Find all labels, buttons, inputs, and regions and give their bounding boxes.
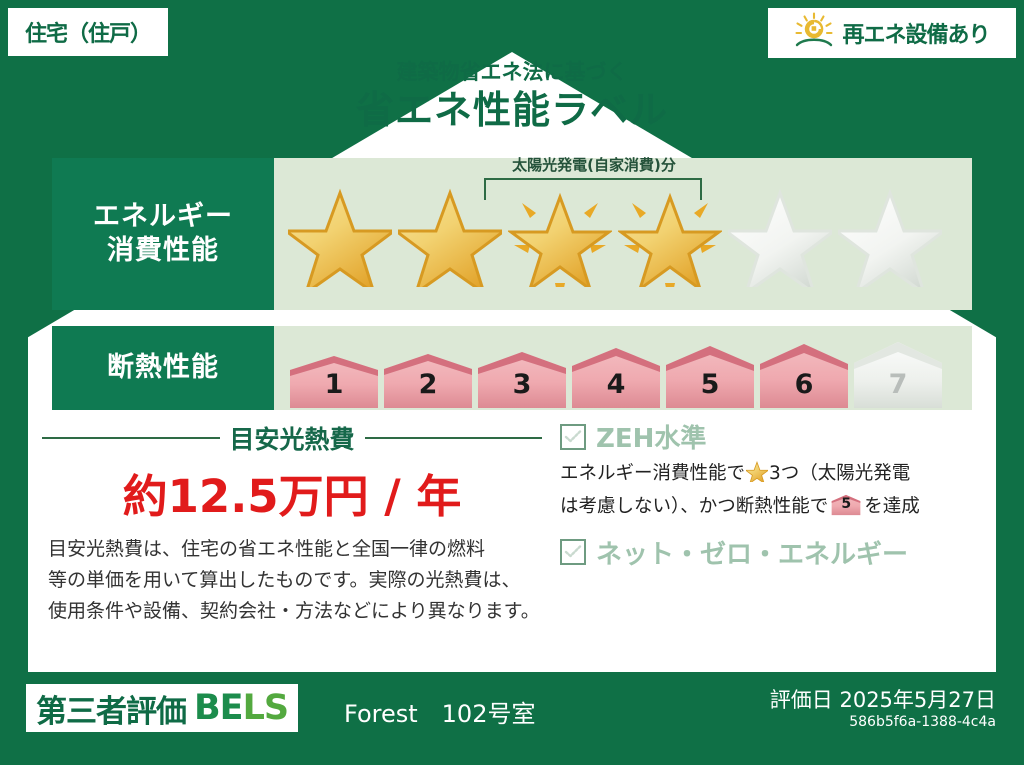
cost-note-line-1: 目安光熱費は、住宅の省エネ性能と全国一律の燃料 (48, 534, 540, 565)
star-5-empty (728, 179, 832, 289)
zeh-standard-description: エネルギー消費性能で 3つ（太陽光発電 は考慮しない）、かつ断熱性能で 5 を達… (560, 459, 970, 522)
bels-wordmark-part2: LS (243, 688, 289, 728)
insulation-grade-3-number: 3 (476, 369, 568, 400)
inline-star-icon (746, 461, 768, 492)
cost-heading-text: 目安光熱費 (230, 420, 355, 456)
footer: 第三者評価 BELS Forest 102号室 評価日 2025年5月27日 5… (0, 672, 1024, 765)
dwelling-type-badge: 住宅（住戸） (8, 8, 168, 56)
insulation-grade-4: 4 (570, 346, 662, 410)
bels-wordmark-part1: BE (194, 688, 243, 728)
insulation-grade-2-number: 2 (382, 369, 474, 400)
bels-logo: 第三者評価 BELS (26, 684, 298, 732)
title-main: 省エネ性能ラベル (0, 87, 1024, 135)
renewable-equipment-label: 再エネ設備あり (842, 17, 989, 49)
bels-wordmark: BELS (194, 688, 288, 728)
insulation-grade-7: 7 (852, 340, 944, 410)
zeh-desc-part-2: は考慮しない）、かつ断熱性能で (560, 496, 828, 517)
zeh-section: ZEH水準 エネルギー消費性能で 3つ（太陽光発電 は考慮しない）、かつ断熱性能… (560, 418, 970, 575)
evaluation-date: 評価日 2025年5月27日 (770, 684, 996, 714)
net-zero-energy-row: ネット・ゼロ・エネルギー (560, 534, 970, 571)
zeh-standard-label: ZEH水準 (596, 418, 706, 455)
insulation-grade-2: 2 (382, 352, 474, 410)
cost-note-line-2: 等の単価を用いて算出したものです。実際の光熱費は、 (48, 565, 540, 596)
insulation-grade-6: 6 (758, 342, 850, 410)
dwelling-type-label: 住宅（住戸） (25, 16, 151, 48)
insulation-grade-body: 1 2 3 4 (274, 326, 972, 410)
star-4-filled-solar (618, 179, 722, 289)
star-rating (274, 179, 942, 289)
zeh-desc-part-1: エネルギー消費性能で (560, 463, 745, 484)
zeh-desc-star-count: 3つ（太陽光発電 (769, 463, 910, 484)
zeh-standard-checkbox-icon[interactable] (560, 424, 586, 450)
insulation-label-text: 断熱性能 (107, 351, 219, 385)
estimated-cost-heading: 目安光熱費 (42, 420, 542, 456)
insulation-grade-6-number: 6 (758, 369, 850, 400)
energy-performance-row: エネルギー 消費性能 太陽光発電(自家消費)分 (52, 158, 972, 310)
insulation-grade-5-number: 5 (664, 369, 756, 400)
label-title: 建築物省エネ法に基づく 省エネ性能ラベル (0, 60, 1024, 135)
title-subtitle: 建築物省エネ法に基づく (0, 60, 1024, 85)
energy-label-line1: エネルギー (93, 200, 233, 234)
insulation-performance-label: 断熱性能 (52, 326, 274, 410)
zeh-standard-row: ZEH水準 (560, 418, 970, 455)
bels-japanese-label: 第三者評価 (36, 686, 186, 731)
insulation-grade-7-number: 7 (852, 369, 944, 400)
insulation-grade-3: 3 (476, 350, 568, 410)
renewable-equipment-badge: 再エネ設備あり (768, 8, 1016, 58)
net-zero-energy-label: ネット・ゼロ・エネルギー (596, 534, 908, 571)
insulation-grade-4-number: 4 (570, 369, 662, 400)
zeh-desc-part-3: を達成 (864, 496, 920, 517)
insulation-grade-1: 1 (288, 354, 380, 410)
insulation-performance-row: 断熱性能 1 (52, 326, 972, 410)
net-zero-checkbox-icon[interactable] (560, 539, 586, 565)
cost-note-line-3: 使用条件や設備、契約会社・方法などにより異なります。 (48, 596, 540, 627)
estimated-cost-note: 目安光熱費は、住宅の省エネ性能と全国一律の燃料 等の単価を用いて算出したものです… (48, 534, 540, 626)
insulation-grade-5: 5 (664, 344, 756, 410)
cost-heading-rule-right (365, 437, 543, 439)
estimated-cost-value: 約12.5万円 / 年 (42, 460, 542, 525)
project-name: Forest 102号室 (344, 694, 535, 729)
inline-insulation-house-icon: 5 (831, 493, 861, 517)
solar-sun-icon (794, 12, 834, 54)
star-3-filled-solar (508, 179, 612, 289)
energy-rating-body: 太陽光発電(自家消費)分 (274, 158, 972, 310)
star-2-filled (398, 179, 502, 289)
inline-house-grade-number: 5 (831, 493, 861, 516)
energy-performance-label: エネルギー 消費性能 (52, 158, 274, 310)
energy-label-line2: 消費性能 (107, 234, 219, 268)
solar-bracket-label: 太陽光発電(自家消費)分 (460, 154, 728, 175)
insulation-grade-1-number: 1 (288, 369, 380, 400)
star-1-filled (288, 179, 392, 289)
insulation-grade-scale: 1 2 3 4 (274, 326, 944, 410)
star-6-empty (838, 179, 942, 289)
evaluation-id: 586b5f6a-1388-4c4a (849, 714, 996, 730)
cost-heading-rule-left (42, 437, 220, 439)
